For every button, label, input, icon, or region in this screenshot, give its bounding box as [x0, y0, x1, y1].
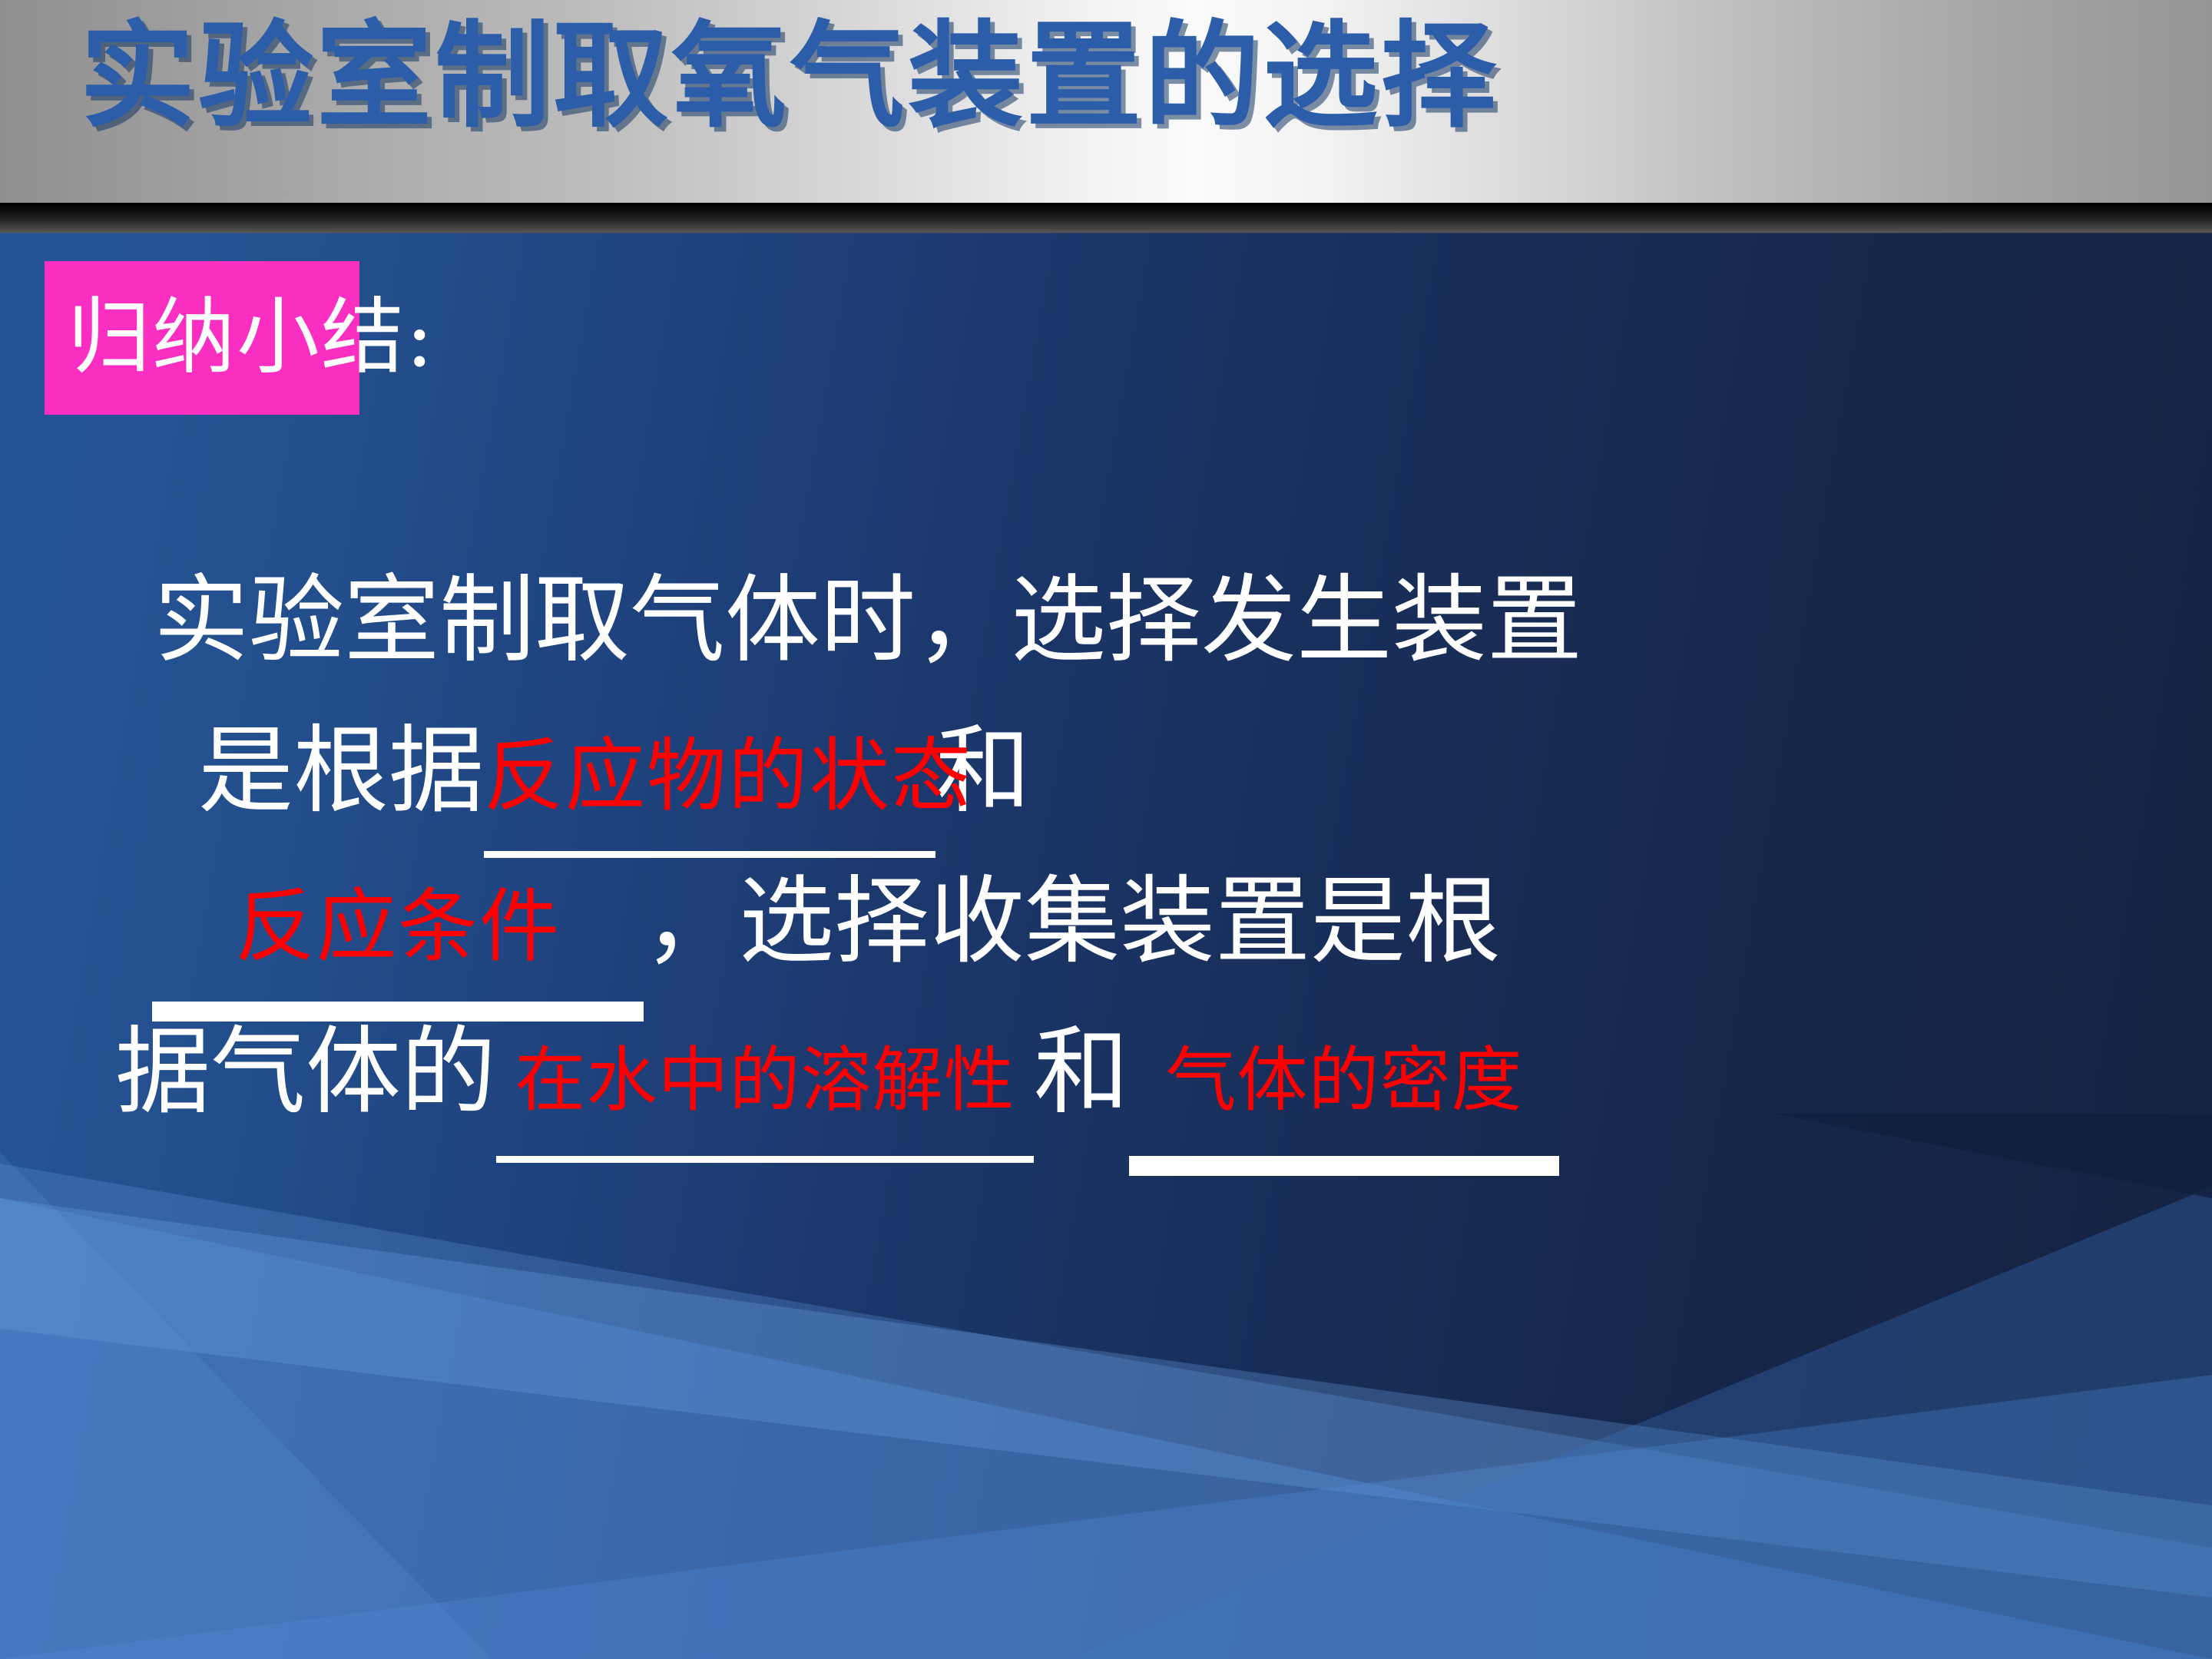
blank-water-solubility: 在水中的溶解性 [496, 997, 1034, 1163]
banner-shadow-strip [0, 203, 2212, 233]
body-paragraph: 实验室制取气体时，选择发生装置 是根据反应物的状态和 反应条件，选择收集装置是根… [115, 545, 2189, 1147]
answer-reactant-state: 反应物的状态 [484, 729, 972, 823]
blank-gas-density: 气体的密度 [1129, 997, 1559, 1176]
line3-suffix: ，选择收集装置是根 [644, 866, 1501, 977]
line2-prefix: 是根据 [198, 716, 484, 826]
page-title: 实验室制取氧气装置的选择 [80, 5, 1499, 149]
answer-reaction-condition: 反应条件 [235, 879, 561, 973]
presentation-slide: 实验室制取氧气装置的选择 归纳小结: 实验室制取气体时，选择发生装置 是根据反应… [0, 0, 2212, 1659]
summary-heading-box: 归纳小结: [45, 261, 359, 415]
paragraph-line-3: 反应条件，选择收集装置是根 [115, 846, 2189, 997]
line4-middle: 和 [1034, 1017, 1129, 1128]
paragraph-line-1: 实验室制取气体时，选择发生装置 [115, 545, 2189, 696]
answer-gas-density: 气体的密度 [1166, 1039, 1523, 1121]
blank-reactant-state: 反应物的状态 [484, 696, 935, 858]
answer-water-solubility: 在水中的溶解性 [515, 1039, 1015, 1121]
summary-heading-label: 归纳小结: [68, 296, 435, 379]
paragraph-line-2: 是根据反应物的状态和 [115, 696, 2189, 846]
slide-header-banner: 实验室制取氧气装置的选择 [0, 0, 2212, 203]
blank-reaction-condition: 反应条件 [152, 846, 644, 1022]
line4-prefix: 据气体的 [115, 1017, 496, 1128]
line1-text: 实验室制取气体时，选择发生装置 [154, 565, 1582, 676]
